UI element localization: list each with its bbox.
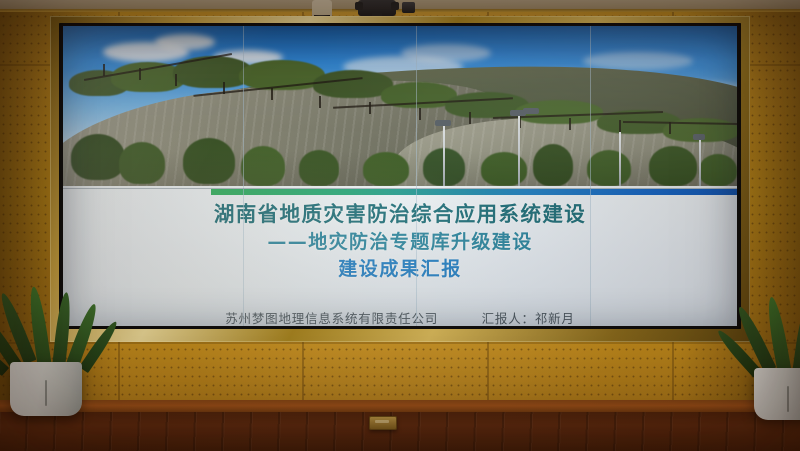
planter-pot xyxy=(754,368,800,420)
slide-title-line-1: 湖南省地质灾害防治综合应用系统建设 xyxy=(63,202,737,228)
slide-title-block: 湖南省地质灾害防治综合应用系统建设 ——地灾防治专题库升级建设 建设成果汇报 xyxy=(63,202,737,283)
plant-left xyxy=(0,286,114,416)
video-wall-display[interactable]: 湖南省地质灾害防治综合应用系统建设 ——地灾防治专题库升级建设 建设成果汇报 苏… xyxy=(63,26,737,326)
accent-gradient-bar xyxy=(211,189,737,195)
slide-title-line-2: ——地灾防治专题库升级建设 xyxy=(63,230,737,256)
panel-seam xyxy=(590,26,591,326)
presenter-name: 汇报人：祁新月 xyxy=(482,311,575,326)
slide-photo xyxy=(63,26,737,186)
panel-seam xyxy=(63,188,737,189)
slide-byline: 苏州梦图地理信息系统有限责任公司 汇报人：祁新月 xyxy=(63,308,737,326)
plant-right xyxy=(742,296,800,418)
floor-power-outlet xyxy=(369,416,397,430)
wood-floor xyxy=(0,412,800,451)
planter-pot xyxy=(10,362,82,416)
sensor-icon xyxy=(402,2,415,13)
room-scene: 湖南省地质灾害防治综合应用系统建设 ——地灾防治专题库升级建设 建设成果汇报 苏… xyxy=(0,0,800,451)
company-name: 苏州梦图地理信息系统有限责任公司 xyxy=(225,311,438,326)
panel-seam xyxy=(243,26,244,326)
panel-seam xyxy=(416,26,417,326)
slide-title-line-3: 建设成果汇报 xyxy=(63,257,737,283)
